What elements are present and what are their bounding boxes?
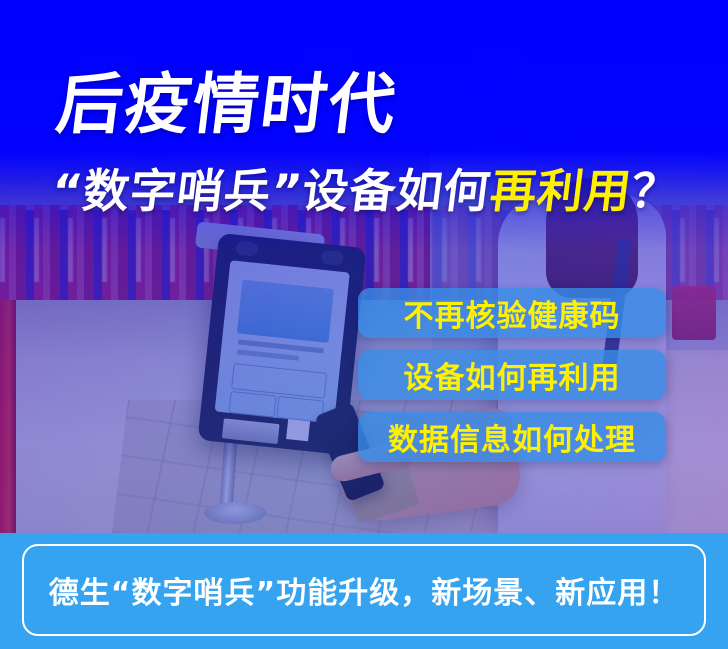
subtitle-highlight: 再利用 — [487, 164, 635, 218]
topic-badge-label: 数据信息如何处理 — [388, 415, 636, 459]
subtitle-suffix: ？ — [628, 164, 682, 218]
topic-badge-label: 不再核验健康码 — [404, 291, 621, 335]
bottom-banner-text: 德生“数字哨兵”功能升级，新场景、新应用！ — [49, 568, 679, 612]
bottom-banner: 德生“数字哨兵”功能升级，新场景、新应用！ — [0, 533, 728, 649]
page-title: 后疫情时代 — [53, 72, 401, 138]
topic-badge[interactable]: 不再核验健康码 — [358, 288, 666, 338]
topic-badge[interactable]: 设备如何再利用 — [358, 350, 666, 400]
subtitle-prefix: “数字哨兵”设备如何 — [49, 164, 494, 218]
bottom-banner-frame: 德生“数字哨兵”功能升级，新场景、新应用！ — [22, 544, 706, 636]
promo-poster: 后疫情时代 “数字哨兵”设备如何再利用？ 不再核验健康码 设备如何再利用 数据信… — [0, 0, 728, 649]
topic-badge-list: 不再核验健康码 设备如何再利用 数据信息如何处理 — [358, 288, 666, 462]
topic-badge[interactable]: 数据信息如何处理 — [358, 412, 666, 462]
topic-badge-label: 设备如何再利用 — [404, 353, 621, 397]
page-subtitle: “数字哨兵”设备如何再利用？ — [49, 168, 681, 214]
